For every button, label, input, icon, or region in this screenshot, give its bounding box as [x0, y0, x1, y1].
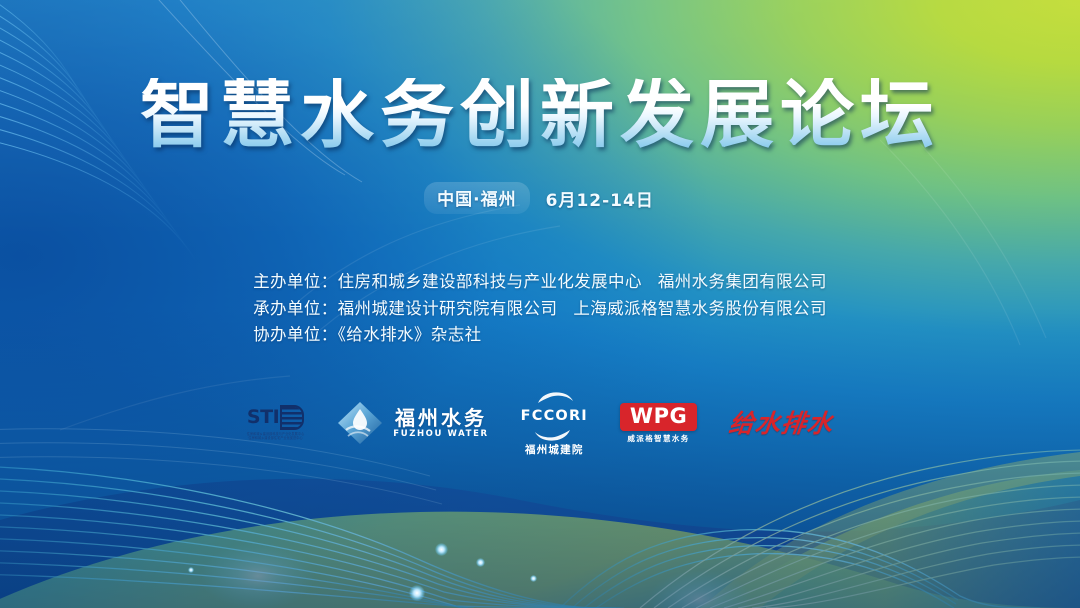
organizer-entity-supporter-1: 《给水排水》杂志社	[338, 325, 482, 344]
logo-strip: STI 住房和城乡建设部科技与产业化发展中心 住房和城乡建设部住宅产业化促进中心	[247, 391, 833, 455]
subtitle-place: 中国·福州	[424, 182, 529, 214]
organizer-block: 主办单位：住房和城乡建设部科技与产业化发展中心福州水务集团有限公司 承办单位：福…	[253, 269, 827, 349]
organizer-entity-coorganizer-2: 上海威派格智慧水务股份有限公司	[573, 299, 827, 318]
fuzhou-water-text: 福州水务 FUZHOU WATER	[393, 408, 488, 439]
double-arc-icon	[534, 391, 574, 406]
fccori-cn: 福州城建院	[525, 445, 584, 456]
poster-content: 智慧水务创新发展论坛 中国·福州 6月12-14日 主办单位：住房和城乡建设部科…	[0, 0, 1080, 608]
fuzhou-water-en: FUZHOU WATER	[393, 430, 488, 439]
organizer-row-supporter: 协办单位：《给水排水》杂志社	[253, 322, 827, 349]
organizer-entity-coorganizer-1: 福州城建设计研究院有限公司	[338, 299, 558, 318]
logo-fccori: FCCORI 福州城建院	[521, 391, 588, 455]
wpg-badge: WPG	[620, 403, 697, 431]
water-drop-diamond-icon	[336, 400, 384, 446]
striped-d-icon	[280, 405, 304, 430]
stid-mark: STI	[247, 405, 304, 430]
organizer-entity-host-1: 住房和城乡建设部科技与产业化发展中心	[338, 272, 642, 291]
fccori-en: FCCORI	[521, 409, 588, 424]
fuzhou-water-cn: 福州水务	[395, 408, 487, 428]
stid-letters: STI	[247, 408, 279, 427]
organizer-label-coorganizer: 承办单位：	[253, 299, 338, 318]
organizer-label-supporter: 协办单位：	[253, 325, 338, 344]
wpg-cn: 威派格智慧水务	[627, 435, 689, 443]
logo-water-supply-drainage-journal: 给水排水	[728, 411, 835, 436]
organizer-entity-host-2: 福州水务集团有限公司	[658, 272, 827, 291]
organizer-label-host: 主办单位：	[253, 272, 338, 291]
logo-fuzhou-water: 福州水务 FUZHOU WATER	[336, 400, 488, 446]
poster-root: 智慧水务创新发展论坛 中国·福州 6月12-14日 主办单位：住房和城乡建设部科…	[0, 0, 1080, 608]
organizer-row-host: 主办单位：住房和城乡建设部科技与产业化发展中心福州水务集团有限公司	[253, 269, 827, 296]
poster-title: 智慧水务创新发展论坛	[140, 78, 940, 152]
stid-subtext: 住房和城乡建设部科技与产业化发展中心 住房和城乡建设部住宅产业化促进中心	[247, 432, 305, 441]
logo-wpg: WPG 威派格智慧水务	[620, 403, 697, 443]
stid-subtext-line2: 住房和城乡建设部住宅产业化促进中心	[247, 437, 305, 442]
organizer-row-coorganizer: 承办单位：福州城建设计研究院有限公司上海威派格智慧水务股份有限公司	[253, 296, 827, 323]
subtitle-date: 6月12-14日	[546, 186, 656, 211]
logo-stid: STI 住房和城乡建设部科技与产业化发展中心 住房和城乡建设部住宅产业化促进中心	[247, 405, 305, 441]
poster-subtitle: 中国·福州 6月12-14日	[424, 182, 656, 214]
double-arc-icon-lower	[534, 427, 574, 442]
